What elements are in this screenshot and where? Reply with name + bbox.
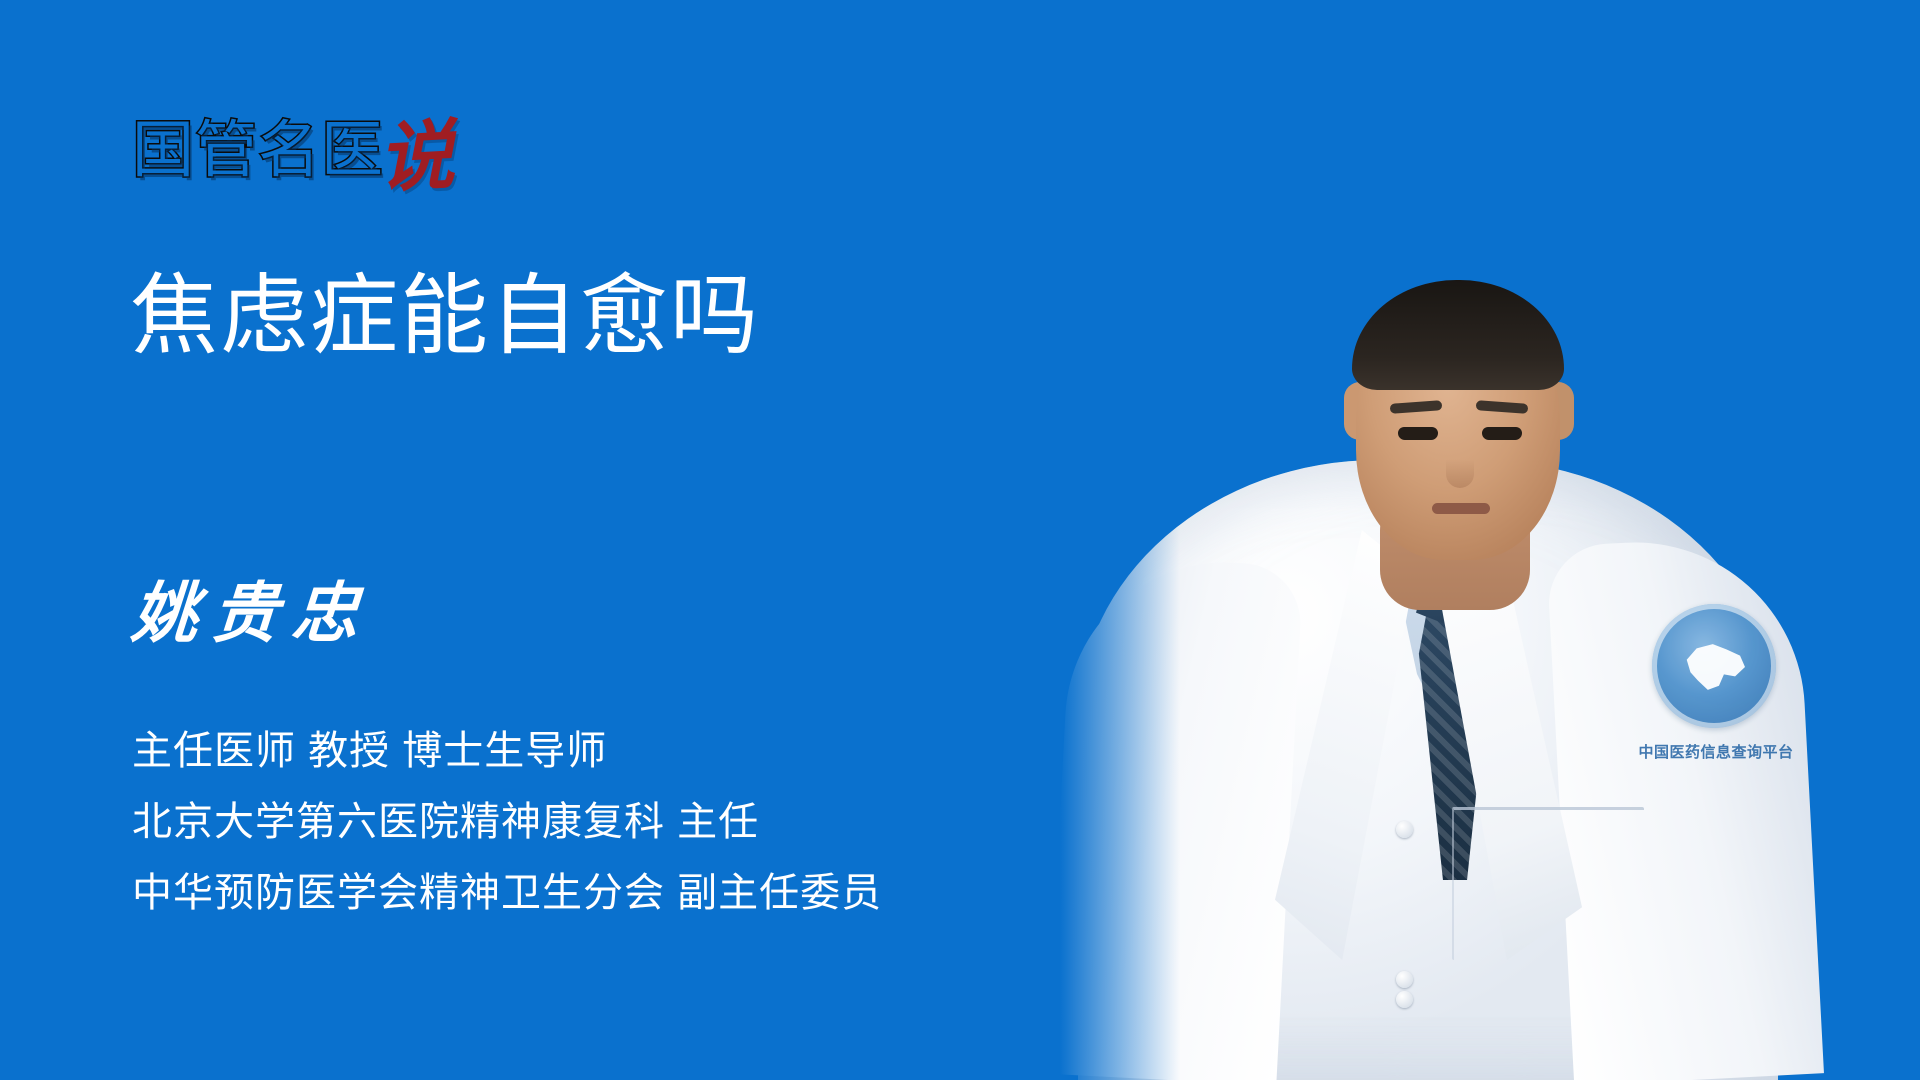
nose <box>1446 440 1474 488</box>
mouth <box>1432 503 1490 514</box>
credential-line-3: 中华预防医学会精神卫生分会 副主任委员 <box>132 870 882 917</box>
coat-pocket <box>1452 807 1644 960</box>
program-logo: 国管名医 说 <box>132 96 454 182</box>
program-logo-accent-text: 说 <box>376 124 455 190</box>
eye-left <box>1398 427 1438 440</box>
doctor-name: 姚贵忠 <box>130 580 375 646</box>
doctor-credentials: 主任医师 教授 博士生导师 北京大学第六医院精神康复科 主任 中华预防医学会精神… <box>132 728 882 918</box>
coat-button-2 <box>1396 971 1413 988</box>
platform-badge-caption: 中国医药信息查询平台 <box>1616 741 1816 762</box>
coat-button-1 <box>1396 821 1413 838</box>
coat-shoulder-left <box>1060 554 1303 1080</box>
credential-line-1: 主任医师 教授 博士生导师 <box>132 728 882 775</box>
eye-right <box>1482 427 1522 440</box>
credential-line-2: 北京大学第六医院精神康复科 主任 <box>132 799 882 846</box>
page-title: 焦虑症能自愈吗 <box>130 267 760 366</box>
program-logo-main-text: 国管名医 <box>132 120 384 182</box>
video-title-card: 国管名医 说 焦虑症能自愈吗 姚贵忠 主任医师 教授 博士生导师 北京大学第六医… <box>0 0 1920 1080</box>
doctor-portrait: 中国医药信息查询平台 <box>1060 0 1920 1080</box>
platform-badge-icon <box>1652 604 1776 728</box>
coat-button-3 <box>1396 991 1413 1008</box>
